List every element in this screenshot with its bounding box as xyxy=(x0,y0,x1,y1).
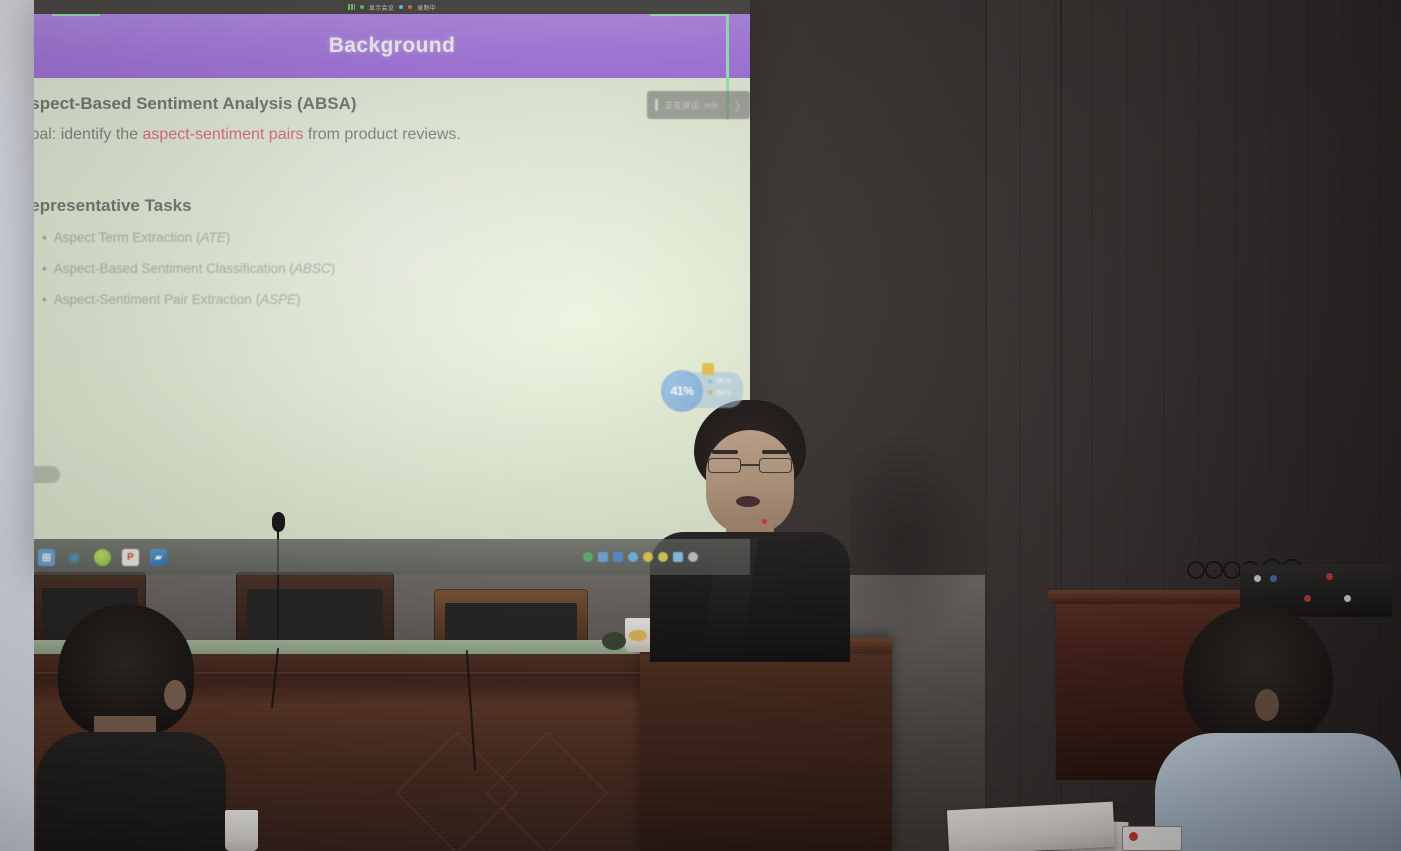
signal-bars-icon xyxy=(348,4,355,10)
tray-icon[interactable] xyxy=(643,552,653,562)
glasses-lens xyxy=(759,458,792,473)
list-item-abbr: ABSC xyxy=(294,261,331,276)
list-item: •Aspect-Sentiment Pair Extraction (ASPE) xyxy=(42,292,301,307)
printed-papers xyxy=(947,802,1115,851)
triangle-down-icon xyxy=(707,391,713,395)
bullet-icon: • xyxy=(42,292,47,307)
eyeglasses xyxy=(706,458,794,473)
list-item-abbr: ATE xyxy=(201,230,226,245)
projection-screen: 显示会议 录制中 Background Aspect-Based Sentime… xyxy=(34,0,750,575)
list-item-close: ) xyxy=(226,230,231,245)
wall-seam xyxy=(985,0,987,851)
presenter xyxy=(644,400,854,650)
status-dot-icon xyxy=(399,5,403,9)
goal-highlight: aspect-sentiment pairs xyxy=(143,126,304,143)
panel-handle[interactable] xyxy=(34,466,60,483)
taskbar: ⊞ e P ▰ xyxy=(34,539,750,575)
triangle-up-icon xyxy=(707,379,713,383)
network-battery-widget[interactable]: 41% 0K/s 0K/s xyxy=(661,370,743,408)
presenter-shadow xyxy=(850,430,980,650)
slide-body: Aspect-Based Sentiment Analysis (ABSA) G… xyxy=(34,78,750,575)
list-item-text: Aspect-Sentiment Pair Extraction ( xyxy=(54,292,260,307)
mixer-knob[interactable] xyxy=(1270,575,1277,582)
tray-icon[interactable] xyxy=(598,552,608,562)
glasses-bridge xyxy=(741,464,759,466)
tray-icon[interactable] xyxy=(673,552,683,562)
audience-member-foreground-right xyxy=(1155,605,1401,851)
audience-torso xyxy=(1155,733,1401,851)
photo-viewer-icon[interactable]: ▰ xyxy=(150,549,167,566)
audience-member-foreground-left xyxy=(36,604,226,851)
small-object xyxy=(602,632,626,650)
mixer-knob[interactable] xyxy=(1304,595,1311,602)
conference-room-photo: 显示会议 录制中 Background Aspect-Based Sentime… xyxy=(0,0,1401,851)
taskbar-launchers: ⊞ e P ▰ xyxy=(34,549,167,566)
upload-speed: 0K/s xyxy=(716,376,731,385)
tray-icon[interactable] xyxy=(688,552,698,562)
list-item: •Aspect Term Extraction (ATE) xyxy=(42,230,230,245)
tablet xyxy=(1122,826,1182,851)
ie-icon[interactable]: e xyxy=(66,549,83,566)
section-heading-absa: Aspect-Based Sentiment Analysis (ABSA) xyxy=(34,94,357,114)
battery-ring: 41% xyxy=(661,370,703,412)
chevron-right-icon[interactable]: ❯ xyxy=(733,99,742,112)
mixer-knob[interactable] xyxy=(1326,573,1333,580)
list-item-close: ) xyxy=(296,292,301,307)
goal-suffix: from product reviews. xyxy=(303,126,460,143)
section-goal-line: Goal: identify the aspect-sentiment pair… xyxy=(34,126,461,144)
meeting-label: 显示会议 xyxy=(369,3,394,12)
table-panel-detail xyxy=(486,732,608,851)
list-item-text: Aspect-Based Sentiment Classification ( xyxy=(54,261,294,276)
presenter-mouth xyxy=(736,496,760,507)
presenter-eyebrow xyxy=(712,450,738,454)
audience-ear xyxy=(1255,689,1279,721)
list-item: •Aspect-Based Sentiment Classification (… xyxy=(42,261,335,276)
audience-ear xyxy=(164,680,186,710)
start-button[interactable]: ⊞ xyxy=(38,549,55,566)
tray-icon[interactable] xyxy=(628,552,638,562)
tray-icon[interactable] xyxy=(583,552,593,562)
tray-icon[interactable] xyxy=(658,552,668,562)
lock-icon xyxy=(702,363,714,375)
speed-rows: 0K/s 0K/s xyxy=(707,376,731,397)
section-heading-tasks: Representative Tasks xyxy=(34,196,192,216)
tray-icon[interactable] xyxy=(613,552,623,562)
download-speed: 0K/s xyxy=(716,388,731,397)
podium xyxy=(640,638,892,851)
recording-label: 录制中 xyxy=(417,3,436,12)
os-status-bar: 显示会议 录制中 xyxy=(34,0,750,14)
status-dot-icon xyxy=(408,5,412,9)
mic-status-led xyxy=(762,519,767,524)
audience-torso xyxy=(36,732,226,851)
level-bar-icon xyxy=(655,99,658,111)
list-item-abbr: ASPE xyxy=(260,292,296,307)
bullet-icon: • xyxy=(42,261,47,276)
mixer-knob[interactable] xyxy=(1254,575,1261,582)
system-tray xyxy=(583,552,750,562)
glasses-lens xyxy=(708,458,741,473)
slide-header: Background xyxy=(34,14,750,78)
battery-percent: 41% xyxy=(671,384,694,398)
paper-cup xyxy=(225,810,258,851)
green-orb-icon[interactable] xyxy=(94,549,111,566)
slide-title: Background xyxy=(329,34,456,58)
powerpoint-icon[interactable]: P xyxy=(122,549,139,566)
presenter-face xyxy=(706,430,794,534)
status-dot-icon xyxy=(360,5,364,9)
bullet-icon: • xyxy=(42,230,47,245)
download-row: 0K/s xyxy=(707,388,731,397)
tablet-indicator xyxy=(1129,832,1138,841)
speaking-indicator-pill[interactable]: 正在讲话: mjk ❯ xyxy=(647,91,750,119)
mixer-knob[interactable] xyxy=(1344,595,1351,602)
upload-row: 0K/s xyxy=(707,376,731,385)
wall-left-strip xyxy=(0,0,34,851)
speaking-label: 正在讲话: mjk xyxy=(665,100,718,111)
list-item-close: ) xyxy=(331,261,336,276)
goal-prefix: Goal: identify the xyxy=(34,126,143,143)
audience-head xyxy=(1183,605,1333,745)
list-item-text: Aspect Term Extraction ( xyxy=(54,230,201,245)
presenter-eyebrow xyxy=(762,450,788,454)
